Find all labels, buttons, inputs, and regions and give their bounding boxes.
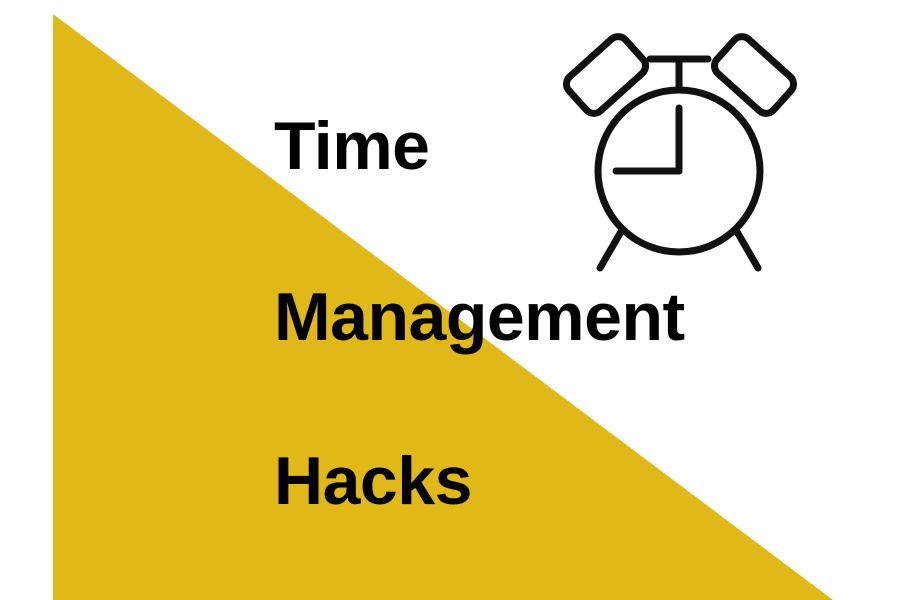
right-leg-icon xyxy=(736,230,758,268)
slide-canvas: Time Management Hacks xyxy=(0,0,900,600)
alarm-clock-icon xyxy=(560,22,800,272)
left-leg-icon xyxy=(600,230,622,268)
